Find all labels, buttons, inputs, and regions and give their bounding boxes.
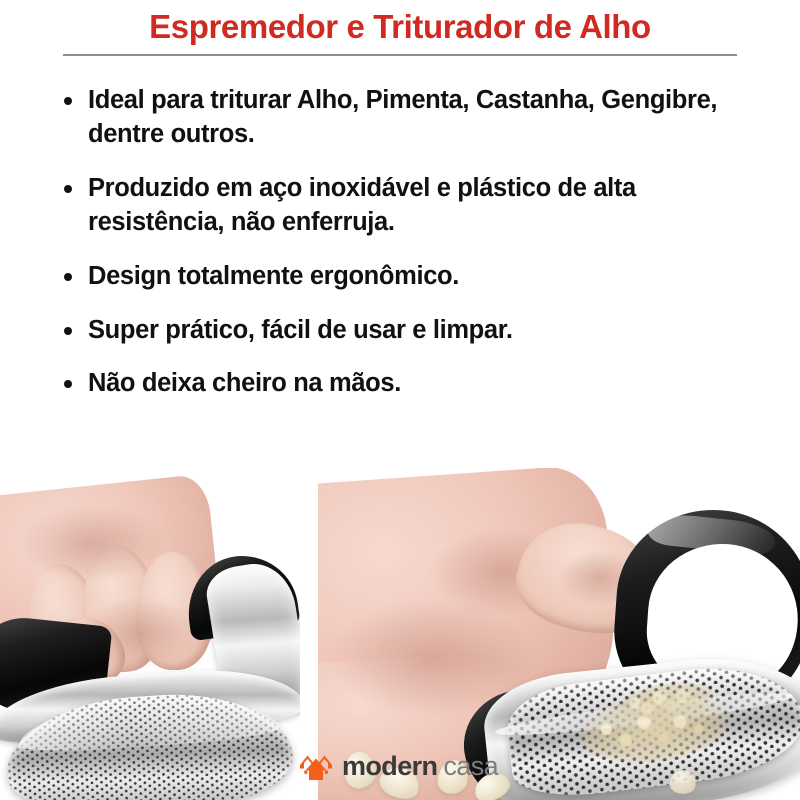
header: Espremedor e Triturador de Alho — [0, 0, 800, 56]
list-item-label: Produzido em aço inoxidável e plástico d… — [88, 174, 636, 236]
list-item: Não deixa cheiro na mãos. — [62, 367, 762, 401]
list-item: Ideal para triturar Alho, Pimenta, Casta… — [62, 84, 762, 152]
brand-name-secondary: casa — [443, 751, 498, 781]
bullet-icon — [64, 380, 72, 388]
list-item: Design totalmente ergonômico. — [62, 260, 762, 294]
brand-logo-text: moderncasa — [342, 753, 498, 780]
brand-name-primary: modern — [342, 751, 437, 781]
garlic-press-grip-photo — [0, 468, 300, 800]
title-divider — [63, 54, 737, 56]
list-item-label: Não deixa cheiro na mãos. — [88, 369, 401, 397]
bullet-icon — [64, 185, 72, 193]
bullet-icon — [64, 97, 72, 105]
bullet-icon — [64, 273, 72, 281]
list-item-label: Super prático, fácil de usar e limpar. — [88, 316, 513, 344]
page-title: Espremedor e Triturador de Alho — [0, 8, 800, 47]
house-icon — [299, 750, 333, 782]
feature-list: Ideal para triturar Alho, Pimenta, Casta… — [62, 84, 762, 401]
bullet-icon — [64, 327, 72, 335]
list-item-label: Design totalmente ergonômico. — [88, 262, 459, 290]
list-item: Produzido em aço inoxidável e plástico d… — [62, 172, 762, 240]
product-infographic: Espremedor e Triturador de Alho Ideal pa… — [0, 0, 800, 800]
list-item: Super prático, fácil de usar e limpar. — [62, 314, 762, 348]
list-item-label: Ideal para triturar Alho, Pimenta, Casta… — [88, 86, 717, 148]
brand-logo: moderncasa — [299, 750, 498, 782]
